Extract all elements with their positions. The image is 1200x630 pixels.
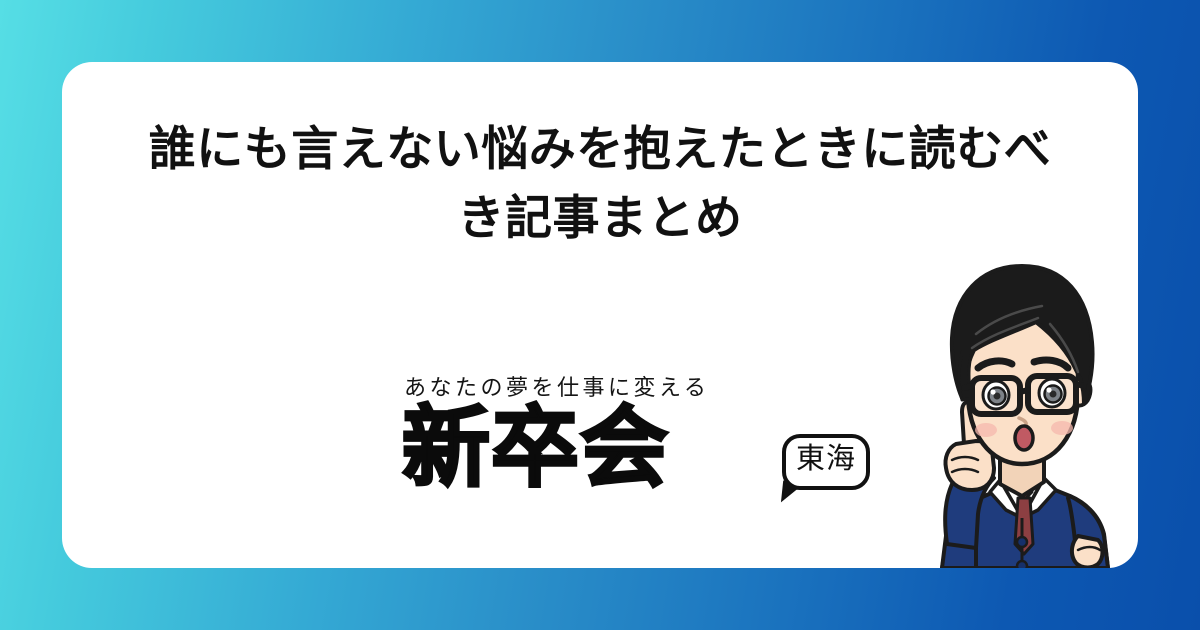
right-hand-icon	[1072, 536, 1103, 567]
title-line-1: 誰にも言えない悩みを抱えたときに読むべ	[102, 114, 1098, 183]
mouth-icon	[1015, 426, 1033, 450]
brand-logo: あなたの夢を仕事に変える 新卒会 東海	[400, 370, 800, 520]
character-illustration	[872, 252, 1138, 568]
logo-wordmark: 新卒会	[402, 400, 669, 496]
logo-region-label: 東海	[778, 442, 874, 474]
og-image-canvas: 誰にも言えない悩みを抱えたときに読むべ き記事まとめ あなたの夢を仕事に変える …	[0, 0, 1200, 630]
page-title: 誰にも言えない悩みを抱えたときに読むべ き記事まとめ	[102, 114, 1098, 252]
logo-region-badge: 東海	[778, 434, 878, 508]
content-card: 誰にも言えない悩みを抱えたときに読むべ き記事まとめ あなたの夢を仕事に変える …	[62, 62, 1138, 568]
title-line-2: き記事まとめ	[102, 183, 1098, 252]
